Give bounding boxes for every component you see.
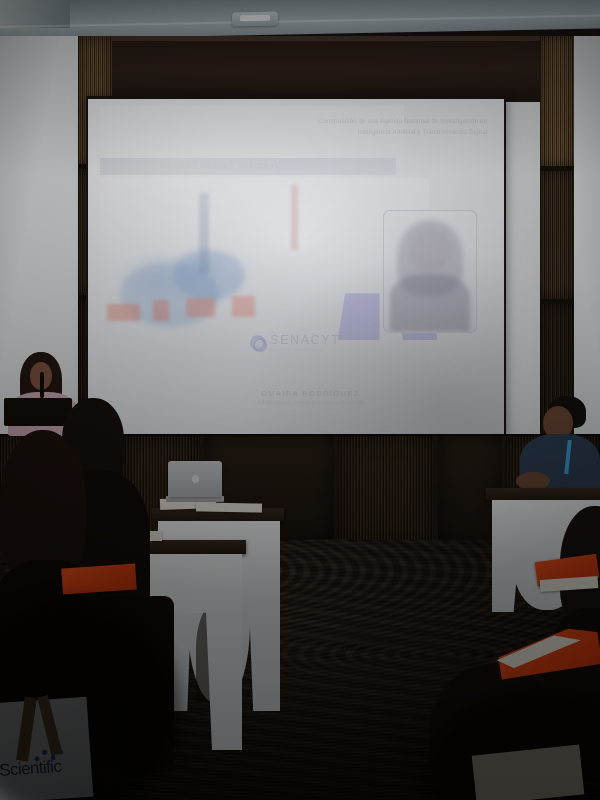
lab-photo-equipment (199, 193, 209, 273)
slide-section-bar-label: PRESENTACIÓN DE LA AGENDA NACIONAL (107, 163, 280, 170)
slide-section-bar: PRESENTACIÓN DE LA AGENDA NACIONAL (100, 158, 395, 175)
head-table-right-top (486, 488, 600, 500)
lab-photo-blob (173, 250, 245, 300)
lab-photo-equipment (232, 296, 255, 317)
portrait-face (408, 228, 452, 272)
bamboo-slat-panel-right-upper (540, 36, 574, 166)
senacyt-wordmark: SENACYT APOYO AL DESARROLLO (270, 334, 340, 352)
lab-photo-equipment (107, 304, 140, 321)
podium-laptop (4, 398, 72, 426)
microphone-icon (40, 372, 44, 398)
ceiling-vent-icon (232, 12, 278, 27)
lab-photo-equipment (291, 185, 298, 250)
presenter-role: Subdirectora de Gestión de Ciencia y Tec… (217, 400, 404, 405)
senacyt-emblem-icon (250, 335, 266, 351)
slide-headline: Construcción de una Agenda Nacional de I… (296, 116, 487, 139)
audience-hair (0, 430, 86, 580)
senacyt-tagline: APOYO AL DESARROLLO (270, 348, 340, 352)
lab-photo-equipment (153, 300, 169, 321)
presenter-name: OMAIRA RODRÍGUEZ (217, 389, 404, 398)
macbook-laptop (168, 461, 222, 497)
presentation-slide: Construcción de una Agenda Nacional de I… (88, 99, 504, 434)
projection-screen: Construcción de una Agenda Nacional de I… (88, 99, 504, 434)
ceiling-light-wash (0, 0, 70, 28)
lab-photo-equipment (186, 298, 216, 317)
portrait-torso (390, 274, 471, 333)
accent-shape-left (338, 293, 380, 340)
slide-presenter-block: OMAIRA RODRÍGUEZ Subdirectora de Gestión… (217, 389, 404, 405)
valance-highlight (78, 36, 540, 41)
printed-papers (196, 502, 262, 512)
wall-valance (78, 36, 540, 102)
senacyt-logo: SENACYT APOYO AL DESARROLLO (250, 334, 340, 352)
apple-logo-icon (192, 475, 199, 483)
orange-folder (61, 563, 137, 594)
lower-wall-slat-panel (338, 436, 434, 546)
bamboo-slat-panel-right-mid (540, 171, 574, 299)
senacyt-name: SENACYT (270, 334, 340, 347)
conference-room-photo: Construcción de una Agenda Nacional de I… (0, 0, 600, 800)
presenter-portrait (383, 210, 477, 334)
